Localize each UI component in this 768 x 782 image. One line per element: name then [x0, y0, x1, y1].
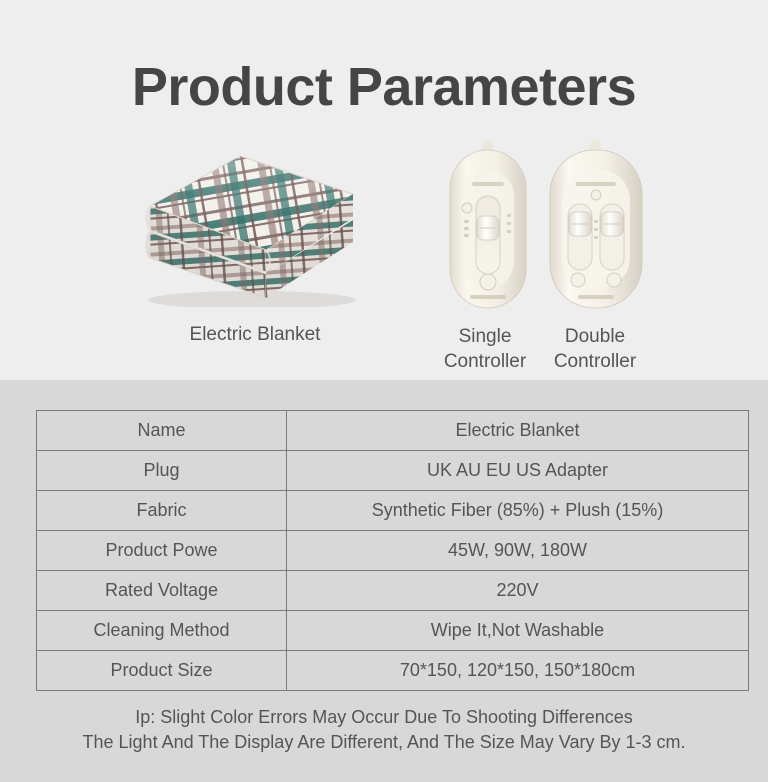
- caption-double-controller-line1: Double: [530, 324, 660, 349]
- table-row: Product Powe 45W, 90W, 180W: [37, 531, 749, 571]
- caption-double-controller: Double Controller: [530, 324, 660, 374]
- blanket-illustration: [128, 132, 368, 307]
- spec-key: Product Size: [37, 651, 287, 691]
- spec-key: Product Powe: [37, 531, 287, 571]
- page-title: Product Parameters: [0, 56, 768, 118]
- product-parameters-page: Product Parameters: [0, 0, 768, 782]
- footer-note-line1: Ip: Slight Color Errors May Occur Due To…: [0, 705, 768, 730]
- table-row: Plug UK AU EU US Adapter: [37, 451, 749, 491]
- spec-key: Name: [37, 411, 287, 451]
- spec-value: Wipe It,Not Washable: [287, 611, 749, 651]
- spec-key: Fabric: [37, 491, 287, 531]
- table-row: Fabric Synthetic Fiber (85%) + Plush (15…: [37, 491, 749, 531]
- spec-table-body: Name Electric Blanket Plug UK AU EU US A…: [37, 411, 749, 691]
- single-controller-illustration: [440, 140, 536, 315]
- table-row: Rated Voltage 220V: [37, 571, 749, 611]
- spec-value: UK AU EU US Adapter: [287, 451, 749, 491]
- single-controller-image: [440, 140, 536, 315]
- spec-value: Electric Blanket: [287, 411, 749, 451]
- specs-section: Name Electric Blanket Plug UK AU EU US A…: [0, 380, 768, 782]
- table-row: Product Size 70*150, 120*150, 150*180cm: [37, 651, 749, 691]
- spec-key: Rated Voltage: [37, 571, 287, 611]
- footer-note: Ip: Slight Color Errors May Occur Due To…: [0, 705, 768, 755]
- spec-table: Name Electric Blanket Plug UK AU EU US A…: [36, 410, 749, 691]
- spec-value: 220V: [287, 571, 749, 611]
- table-row: Name Electric Blanket: [37, 411, 749, 451]
- spec-value: Synthetic Fiber (85%) + Plush (15%): [287, 491, 749, 531]
- double-controller-illustration: [542, 140, 650, 315]
- caption-double-controller-line2: Controller: [530, 349, 660, 374]
- spec-value: 45W, 90W, 180W: [287, 531, 749, 571]
- hero-section: Product Parameters: [0, 0, 768, 380]
- footer-note-line2: The Light And The Display Are Different,…: [0, 730, 768, 755]
- table-row: Cleaning Method Wipe It,Not Washable: [37, 611, 749, 651]
- spec-key: Cleaning Method: [37, 611, 287, 651]
- spec-value: 70*150, 120*150, 150*180cm: [287, 651, 749, 691]
- double-controller-image: [542, 140, 650, 315]
- caption-electric-blanket: Electric Blanket: [120, 324, 390, 346]
- electric-blanket-image: [128, 132, 368, 307]
- spec-key: Plug: [37, 451, 287, 491]
